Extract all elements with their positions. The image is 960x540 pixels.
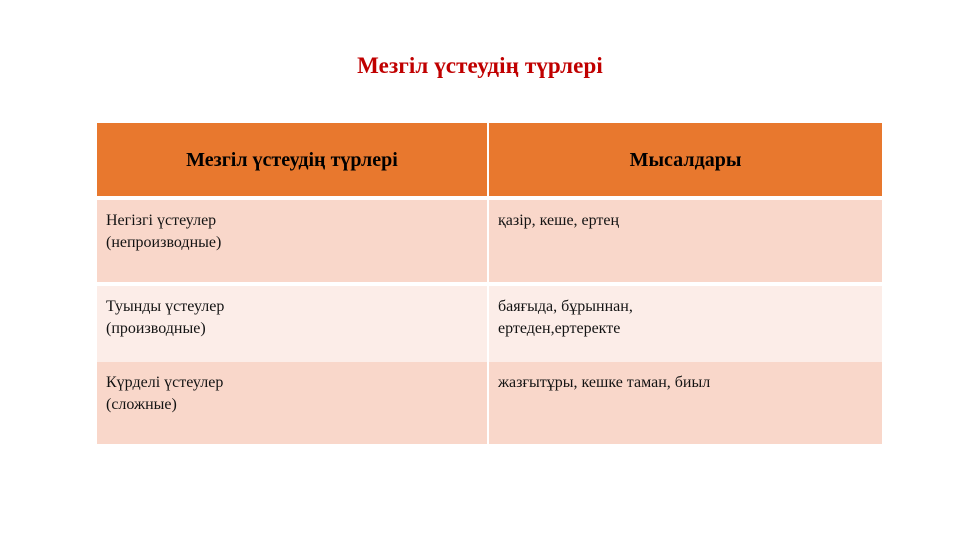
cell-type-line-1: Күрделі үстеулер [106, 372, 478, 394]
cell-type-line-2: (сложные) [106, 394, 478, 416]
adverb-types-table: Мезгіл үстеудің түрлері Мысалдары Негізг… [97, 123, 882, 444]
table-header: Мезгіл үстеудің түрлері Мысалдары [97, 123, 882, 196]
cell-type-line-1: Негізгі үстеулер [106, 210, 478, 232]
table-header-row: Мезгіл үстеудің түрлері Мысалдары [97, 123, 882, 196]
page-title: Мезгіл үстеудің түрлері [0, 52, 960, 80]
column-header-type: Мезгіл үстеудің түрлері [97, 123, 489, 196]
slide-canvas: Мезгіл үстеудің түрлері Мезгіл үстеудің … [0, 0, 960, 540]
cell-examples: баяғыда, бұрыннан, ертеден,ертеректе [489, 286, 882, 362]
adverb-types-table-container: Мезгіл үстеудің түрлері Мысалдары Негізг… [97, 123, 882, 444]
cell-examples: жазғытұры, кешке таман, биыл [489, 362, 882, 444]
column-header-examples: Мысалдары [489, 123, 882, 196]
cell-examples-line-2: ертеден,ертеректе [498, 318, 873, 340]
table-row: Туынды үстеулер (производные) баяғыда, б… [97, 286, 882, 362]
cell-examples-line-1: қазір, кеше, ертең [498, 210, 873, 232]
cell-type: Күрделі үстеулер (сложные) [97, 362, 489, 444]
cell-type-line-2: (производные) [106, 318, 478, 340]
table-body: Негізгі үстеулер (непроизводные) қазір, … [97, 196, 882, 444]
cell-examples: қазір, кеше, ертең [489, 200, 882, 282]
cell-type: Негізгі үстеулер (непроизводные) [97, 200, 489, 282]
cell-type-line-2: (непроизводные) [106, 232, 478, 254]
cell-type: Туынды үстеулер (производные) [97, 286, 489, 362]
cell-examples-line-1: жазғытұры, кешке таман, биыл [498, 372, 873, 394]
table-row: Негізгі үстеулер (непроизводные) қазір, … [97, 200, 882, 282]
cell-type-line-1: Туынды үстеулер [106, 296, 478, 318]
table-row: Күрделі үстеулер (сложные) жазғытұры, ке… [97, 362, 882, 444]
cell-examples-line-1: баяғыда, бұрыннан, [498, 296, 873, 318]
